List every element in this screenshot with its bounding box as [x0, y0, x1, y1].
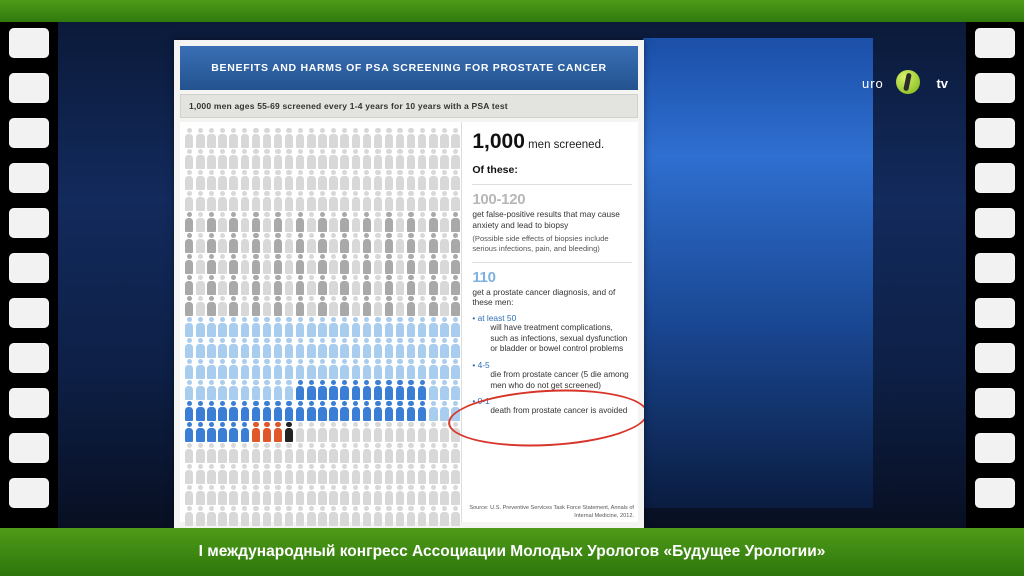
pictogram-person: [273, 233, 284, 253]
film-perforation: [9, 298, 49, 328]
pictogram-row: [184, 317, 461, 338]
pictogram-person: [384, 149, 395, 169]
pictogram-person: [339, 275, 350, 295]
pictogram-person: [262, 359, 273, 379]
pictogram-person: [306, 464, 317, 484]
pictogram-person: [284, 275, 295, 295]
headline-suffix: men screened.: [525, 139, 604, 151]
pictogram-person: [417, 254, 428, 274]
pictogram-person: [295, 443, 306, 463]
pictogram-person: [195, 443, 206, 463]
pictogram-person: [428, 506, 439, 526]
pictogram-person: [251, 359, 262, 379]
stat-number-diagnosis: 110: [472, 269, 632, 286]
pictogram-person: [450, 170, 461, 190]
pictogram-person: [217, 170, 228, 190]
pictogram-person: [195, 464, 206, 484]
video-background: BENEFITS AND HARMS OF PSA SCREENING FOR …: [58, 22, 966, 528]
pictogram-person: [439, 296, 450, 316]
pictogram-person: [306, 296, 317, 316]
pictogram-person: [406, 296, 417, 316]
pictogram-person: [328, 422, 339, 442]
pictogram-person: [251, 128, 262, 148]
pictogram-person: [306, 443, 317, 463]
pictogram-person: [339, 191, 350, 211]
pictogram-person: [362, 149, 373, 169]
pictogram-person: [339, 254, 350, 274]
pictogram-row: [184, 275, 461, 296]
bullet-text-deaths: die from prostate cancer (5 die among me…: [490, 370, 632, 391]
pictogram-person: [295, 254, 306, 274]
pictogram-person: [217, 380, 228, 400]
pictogram-person: [450, 128, 461, 148]
divider-2: [472, 262, 632, 263]
pictogram-person: [417, 149, 428, 169]
pictogram-person: [328, 506, 339, 526]
pictogram-person: [195, 422, 206, 442]
headline-line: 1,000 men screened.: [472, 130, 632, 154]
pictogram-person: [373, 506, 384, 526]
pictogram-person: [428, 128, 439, 148]
pictogram-person: [362, 359, 373, 379]
pictogram-person: [450, 506, 461, 526]
pictogram-person: [284, 191, 295, 211]
pictogram-person: [395, 317, 406, 337]
pictogram-person: [217, 422, 228, 442]
pictogram-person: [195, 506, 206, 526]
pictogram-person: [195, 380, 206, 400]
pictogram-person: [350, 212, 361, 232]
pictogram-person: [284, 296, 295, 316]
pictogram-person: [428, 170, 439, 190]
pictogram-person: [217, 464, 228, 484]
slide-text-column: 1,000 men screened. Of these: 100-120 ge…: [461, 122, 638, 522]
pictogram-person: [217, 275, 228, 295]
pictogram-person: [362, 212, 373, 232]
pictogram-person: [295, 380, 306, 400]
pictogram-person: [239, 149, 250, 169]
logo-text-left: uro: [862, 76, 884, 91]
pictogram-person: [362, 296, 373, 316]
pictogram-person: [328, 254, 339, 274]
pictogram-person: [262, 275, 273, 295]
film-perforation: [9, 478, 49, 508]
pictogram-person: [251, 422, 262, 442]
top-green-bar: [0, 0, 1024, 22]
pictogram-person: [439, 275, 450, 295]
pictogram-person: [450, 464, 461, 484]
pictogram-person: [395, 464, 406, 484]
pictogram-person: [384, 128, 395, 148]
pictogram-person: [206, 149, 217, 169]
pictogram-person: [184, 170, 195, 190]
pictogram-person: [373, 212, 384, 232]
pictogram-person: [339, 422, 350, 442]
pictogram-person: [406, 191, 417, 211]
pictogram-person: [228, 485, 239, 505]
pictogram-person: [217, 233, 228, 253]
pictogram-person: [384, 485, 395, 505]
pictogram-person: [195, 212, 206, 232]
pictogram-person: [262, 128, 273, 148]
pictogram-person: [206, 359, 217, 379]
pictogram-person: [195, 296, 206, 316]
slide-content: 1,000 men screened. Of these: 100-120 ge…: [180, 122, 638, 522]
pictogram-person: [239, 317, 250, 337]
pictogram-person: [406, 233, 417, 253]
pictogram-person: [262, 212, 273, 232]
pictogram-person: [384, 443, 395, 463]
pictogram-person: [317, 254, 328, 274]
pictogram-person: [428, 464, 439, 484]
pictogram-person: [306, 254, 317, 274]
pictogram-person: [373, 338, 384, 358]
film-perforation: [975, 118, 1015, 148]
film-perforation: [9, 388, 49, 418]
pictogram-person: [406, 464, 417, 484]
pictogram-person: [217, 443, 228, 463]
video-viewport[interactable]: BENEFITS AND HARMS OF PSA SCREENING FOR …: [58, 22, 966, 528]
pictogram-person: [262, 422, 273, 442]
pictogram-person: [273, 317, 284, 337]
pictogram-person: [184, 506, 195, 526]
pictogram-person: [373, 359, 384, 379]
pictogram-person: [273, 212, 284, 232]
pictogram-person: [328, 170, 339, 190]
pictogram-person: [373, 380, 384, 400]
pictogram-person: [195, 149, 206, 169]
pictogram-row: [184, 128, 461, 149]
pictogram-person: [373, 485, 384, 505]
pictogram-person: [339, 359, 350, 379]
pictogram-person: [439, 170, 450, 190]
pictogram-person: [284, 233, 295, 253]
pictogram-person: [395, 128, 406, 148]
pictogram-person: [362, 338, 373, 358]
pictogram-person: [395, 275, 406, 295]
pictogram-person: [317, 359, 328, 379]
pictogram-person: [184, 149, 195, 169]
pictogram-person: [184, 191, 195, 211]
pictogram-person: [339, 380, 350, 400]
pictogram-person: [395, 170, 406, 190]
pictogram-person: [239, 485, 250, 505]
pictogram-person: [206, 380, 217, 400]
pictogram-person: [395, 191, 406, 211]
bullet-label-avoided: • 0-1: [472, 396, 632, 406]
pictogram-person: [284, 422, 295, 442]
presentation-slide: BENEFITS AND HARMS OF PSA SCREENING FOR …: [174, 40, 644, 528]
caption-bar: I международный конгресс Ассоциации Моло…: [0, 528, 1024, 576]
pictogram-person: [273, 128, 284, 148]
pictogram-person: [195, 485, 206, 505]
pictogram-person: [350, 149, 361, 169]
film-perforation: [9, 163, 49, 193]
pictogram-person: [406, 149, 417, 169]
pictogram-person: [251, 170, 262, 190]
pictogram-person: [251, 275, 262, 295]
pictogram-person: [350, 128, 361, 148]
pictogram-person: [406, 359, 417, 379]
pictogram-person: [373, 149, 384, 169]
pictogram-person: [306, 401, 317, 421]
pictogram-person: [339, 212, 350, 232]
film-perforation: [9, 208, 49, 238]
pictogram-person: [450, 380, 461, 400]
pictogram-row: [184, 212, 461, 233]
bullet-label-deaths: • 4-5: [472, 360, 632, 370]
pictogram-person: [317, 170, 328, 190]
pictogram-person: [350, 317, 361, 337]
pictogram-person: [262, 233, 273, 253]
pictogram-person: [339, 317, 350, 337]
caption-text: I международный конгресс Ассоциации Моло…: [199, 543, 826, 561]
pictogram-row: [184, 170, 461, 191]
pictogram-person: [184, 359, 195, 379]
film-perforation: [975, 388, 1015, 418]
pictogram-person: [195, 191, 206, 211]
pictogram-person: [195, 170, 206, 190]
pictogram-person: [428, 296, 439, 316]
pictogram-person: [251, 254, 262, 274]
bullet-text-avoided: death from prostate cancer is avoided: [490, 406, 632, 417]
pictogram-person: [373, 317, 384, 337]
pictogram-person: [428, 443, 439, 463]
pictogram-person: [439, 359, 450, 379]
pictogram-person: [428, 254, 439, 274]
pictogram-person: [184, 401, 195, 421]
pictogram-person: [184, 422, 195, 442]
pictogram-person: [350, 380, 361, 400]
stat-block-false-positive: 100-120 get false-positive results that …: [472, 191, 632, 254]
pictogram-person: [328, 296, 339, 316]
pictogram-row: [184, 233, 461, 254]
pictogram-person: [406, 338, 417, 358]
pictogram-person: [284, 485, 295, 505]
pictogram-person: [239, 191, 250, 211]
pictogram-row: [184, 149, 461, 170]
pictogram-person: [395, 443, 406, 463]
pictogram-person: [384, 359, 395, 379]
pictogram-person: [273, 422, 284, 442]
pictogram-row: [184, 506, 461, 527]
pictogram-person: [184, 128, 195, 148]
film-perforation: [9, 433, 49, 463]
pictogram-person: [273, 170, 284, 190]
pictogram-person: [417, 380, 428, 400]
pictogram-person: [350, 422, 361, 442]
pictogram-person: [450, 254, 461, 274]
pictogram-person: [295, 128, 306, 148]
pictogram-person: [273, 149, 284, 169]
pictogram-person: [417, 296, 428, 316]
pictogram-person: [417, 212, 428, 232]
pictogram-person: [317, 380, 328, 400]
pictogram-person: [439, 191, 450, 211]
pictogram-person: [328, 401, 339, 421]
pictogram-person: [306, 359, 317, 379]
pictogram-person: [228, 296, 239, 316]
pictogram-person: [239, 275, 250, 295]
pictogram-person: [284, 170, 295, 190]
pictogram-person: [273, 485, 284, 505]
pictogram-row: [184, 443, 461, 464]
pictogram-person: [339, 296, 350, 316]
pictogram-person: [417, 275, 428, 295]
pictogram-person: [273, 296, 284, 316]
pictogram-person: [395, 380, 406, 400]
pictogram-person: [328, 275, 339, 295]
pictogram-person: [206, 191, 217, 211]
pictogram-person: [406, 401, 417, 421]
pictogram-person: [262, 149, 273, 169]
pictogram-person: [450, 443, 461, 463]
pictogram-person: [306, 485, 317, 505]
pictogram-person: [317, 212, 328, 232]
pictogram-person: [339, 443, 350, 463]
pictogram-person: [384, 170, 395, 190]
pictogram-person: [362, 170, 373, 190]
pictogram-person: [362, 464, 373, 484]
pictogram-person: [284, 380, 295, 400]
pictogram-person: [406, 506, 417, 526]
pictogram-person: [450, 212, 461, 232]
pictogram-person: [439, 254, 450, 274]
pictogram-person: [339, 464, 350, 484]
pictogram-person: [406, 170, 417, 190]
pictogram-person: [439, 422, 450, 442]
pictogram-person: [228, 128, 239, 148]
pictogram-person: [428, 149, 439, 169]
pictogram-person: [262, 401, 273, 421]
pictogram-person: [373, 422, 384, 442]
film-perforation: [9, 28, 49, 58]
pictogram-person: [228, 149, 239, 169]
pictogram-person: [417, 128, 428, 148]
pictogram-person: [362, 380, 373, 400]
pictogram-person: [228, 317, 239, 337]
slide-background-panel: [643, 38, 873, 508]
pictogram-person: [350, 191, 361, 211]
pictogram-row: [184, 338, 461, 359]
pictogram-person: [328, 464, 339, 484]
pictogram-person: [273, 506, 284, 526]
pictogram-person: [406, 317, 417, 337]
pictogram-person: [284, 443, 295, 463]
pictogram-person: [273, 254, 284, 274]
film-perforation: [975, 28, 1015, 58]
pictogram-person: [284, 506, 295, 526]
slide-subtitle-bar: 1,000 men ages 55-69 screened every 1-4 …: [180, 94, 638, 118]
pictogram-person: [206, 212, 217, 232]
pictogram-person: [428, 485, 439, 505]
pictogram-person: [295, 296, 306, 316]
bullet-label-complications: • at least 50: [472, 313, 632, 323]
pictogram-person: [217, 506, 228, 526]
pictogram-person: [206, 317, 217, 337]
pictogram-person: [317, 338, 328, 358]
slide-subtitle: 1,000 men ages 55-69 screened every 1-4 …: [181, 101, 508, 111]
pictogram-person: [406, 380, 417, 400]
video-player-frame: BENEFITS AND HARMS OF PSA SCREENING FOR …: [0, 0, 1024, 576]
pictogram-person: [239, 170, 250, 190]
pictogram-person: [184, 464, 195, 484]
pictogram-person: [195, 338, 206, 358]
pictogram-person: [239, 128, 250, 148]
pictogram-person: [328, 359, 339, 379]
pictogram-person: [373, 296, 384, 316]
pictogram-person: [417, 338, 428, 358]
slide-source-note: Source: U.S. Preventive Services Task Fo…: [462, 505, 634, 520]
pictogram-person: [251, 443, 262, 463]
pictogram-row: [184, 296, 461, 317]
pictogram-person: [417, 359, 428, 379]
pictogram-person: [439, 401, 450, 421]
pictogram-person: [195, 359, 206, 379]
pictogram-person: [317, 233, 328, 253]
pictogram-person: [217, 149, 228, 169]
pictogram-person: [350, 443, 361, 463]
pictogram-person: [251, 464, 262, 484]
pictogram-person: [239, 212, 250, 232]
divider-1: [472, 184, 632, 185]
pictogram-person: [384, 233, 395, 253]
pictogram-person: [450, 191, 461, 211]
pictogram-person: [317, 191, 328, 211]
pictogram-person: [428, 191, 439, 211]
pictogram-person: [450, 149, 461, 169]
pictogram-person: [239, 506, 250, 526]
stat-text-false-positive: get false-positive results that may caus…: [472, 209, 632, 230]
pictogram-person: [450, 338, 461, 358]
pictogram-person: [251, 233, 262, 253]
pictogram-person: [384, 275, 395, 295]
pictogram-person: [306, 506, 317, 526]
pictogram-person: [350, 233, 361, 253]
stat-note-false-positive: (Possible side effects of biopsies inclu…: [472, 234, 632, 253]
pictogram-person: [228, 506, 239, 526]
film-perforation: [975, 433, 1015, 463]
pictogram-person: [362, 401, 373, 421]
pictogram-person: [217, 254, 228, 274]
pictogram-person: [417, 464, 428, 484]
pictogram-person: [306, 275, 317, 295]
pictogram-person: [184, 443, 195, 463]
pictogram-person: [339, 128, 350, 148]
pictogram-person: [395, 233, 406, 253]
pictogram-person: [295, 506, 306, 526]
pictogram-person: [262, 317, 273, 337]
pictogram-person: [184, 296, 195, 316]
pictogram-person: [295, 149, 306, 169]
pictogram-person: [317, 422, 328, 442]
pictogram-person: [339, 170, 350, 190]
pictogram-person: [395, 506, 406, 526]
pictogram-person: [262, 443, 273, 463]
pictogram-person: [273, 275, 284, 295]
pictogram-person: [350, 275, 361, 295]
pictogram-person: [328, 128, 339, 148]
pictogram-person: [450, 296, 461, 316]
pictogram-person: [295, 401, 306, 421]
pictogram-person: [373, 233, 384, 253]
pictogram-person: [306, 422, 317, 442]
pictogram-person: [395, 338, 406, 358]
pictogram-person: [317, 128, 328, 148]
pictogram-person: [262, 296, 273, 316]
pictogram-person: [417, 401, 428, 421]
pictogram-person: [350, 464, 361, 484]
